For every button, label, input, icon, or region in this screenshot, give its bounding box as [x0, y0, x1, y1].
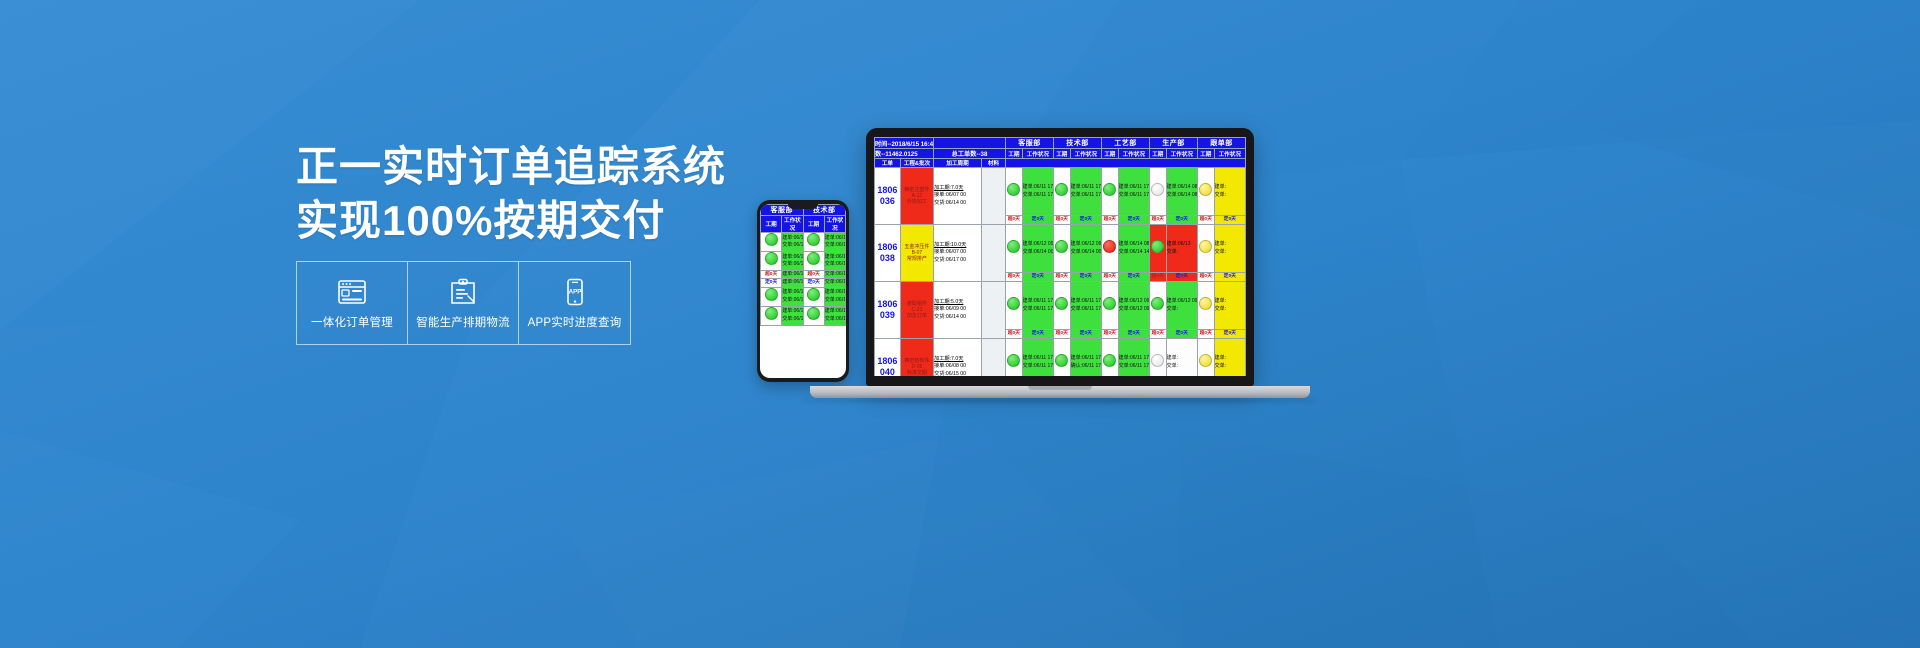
- project-memo-cell: 装配组件 C-21 加急订单: [900, 282, 933, 339]
- status-bar-row-2: 数--11462.0125 总工单数--38 工期 工作状况 工期 工作状况 工…: [875, 149, 1246, 159]
- status-line: 建单:: [1167, 355, 1197, 362]
- status-dot-green: [1055, 297, 1068, 310]
- feature-label: APP实时进度查询: [528, 314, 622, 330]
- status-count: [934, 138, 1006, 149]
- status-dot-green: [1151, 240, 1164, 253]
- status-dot-green: [1007, 240, 1020, 253]
- order-card-icon: [335, 277, 369, 307]
- status-line: 交单:06/14 00: [1023, 249, 1053, 256]
- status-dot-green: [1007, 183, 1020, 196]
- clipboard-schedule-icon: [446, 277, 480, 307]
- status-line: 建单:06/11 17: [1023, 298, 1053, 305]
- status-line: 建单:06/11 17: [825, 308, 845, 315]
- status-detail-cell: 建单: 交单:: [1214, 225, 1245, 273]
- badge-over: 超0天: [1101, 216, 1118, 225]
- badge-fixed: 定0天: [1118, 273, 1149, 282]
- phone-badge-over: 超0天: [803, 271, 824, 279]
- sub-header-period: 工期: [1054, 149, 1071, 159]
- receive-date: 接单:06/07 00: [934, 249, 981, 256]
- badge-over: 超0天: [1054, 330, 1071, 339]
- phone-badge-fixed: 定0天: [761, 279, 782, 287]
- phone-subheader-row: 工期 工作状况 工期 工作状况: [761, 216, 846, 233]
- status-line: 建单:06/11 17: [782, 235, 802, 242]
- status-dot-yellow: [1199, 354, 1212, 367]
- status-line: 交单:06/12 09: [1119, 306, 1149, 313]
- status-dot-green: [765, 252, 778, 265]
- sub-header-workstatus: 工作状况: [1070, 149, 1101, 159]
- status-line: 建单:06/14 08: [1167, 184, 1197, 191]
- status-dot-cell[interactable]: [1149, 282, 1166, 330]
- status-line: 建单:06/11 17: [782, 254, 802, 261]
- phone-dashboard-table: 客服部 技术部 工期 工作状况 工期 工作状况 建单:06/11 17 交单:0…: [760, 204, 846, 326]
- status-line: 建单:06/11 17: [782, 308, 802, 315]
- order-number-cell[interactable]: 1806 040: [875, 339, 901, 377]
- status-line: 交单:06/11 17: [825, 316, 845, 323]
- phone-status-dot-cell[interactable]: [803, 252, 824, 271]
- badge-over: 超0天: [1006, 330, 1023, 339]
- status-dot-green: [765, 307, 778, 320]
- badge-fixed: 定0天: [1070, 216, 1101, 225]
- sub-header-workstatus: 工作状况: [1214, 149, 1245, 159]
- feature-order-management[interactable]: 一体化订单管理: [297, 262, 408, 344]
- phone-sub-header: 工作状况: [782, 216, 803, 233]
- status-line: 建单:06/11 17: [825, 254, 845, 261]
- status-bar-row: 时间--2018/6/15 16:41:36 客服部 技术部 工艺部 生产部 跟…: [875, 138, 1246, 149]
- status-line: 建单:06/11 17: [1071, 298, 1101, 305]
- sub-header-workstatus: 工作状况: [1022, 149, 1053, 159]
- process-cycle-cell: 加工期:7.0天 接单:06/07 00 交货:06/14 00: [934, 168, 982, 225]
- status-dot-green: [807, 233, 820, 246]
- badge-over: 超0天: [1197, 330, 1214, 339]
- cycle-label: 加工期:7.0天: [934, 356, 963, 362]
- receive-date: 接单:06/08 00: [934, 363, 981, 370]
- status-dot-green: [807, 307, 820, 320]
- status-line: 建单:06/11 17: [782, 271, 802, 278]
- badge-over: 超0天: [1101, 330, 1118, 339]
- status-line: 交单:06/11 17: [825, 297, 845, 304]
- status-line: 建单:06/11 17: [1119, 355, 1149, 362]
- status-line: 建单:06/11 17: [782, 289, 802, 296]
- status-dot-green: [1103, 354, 1116, 367]
- status-line: 建单:06/12 09: [1167, 298, 1197, 305]
- phone-status-cell: 建单:06/11 17 交单:06/11 17: [824, 287, 845, 306]
- hero-copy: 正一实时订单追踪系统 实现100%按期交付: [296, 140, 716, 248]
- receive-date: 接单:06/07 00: [934, 192, 981, 199]
- badge-over: 超0天: [1006, 273, 1023, 282]
- phone-app-icon: APP: [558, 277, 592, 307]
- status-detail-cell: 建单:06/12 09 交单:06/12 09: [1118, 282, 1149, 330]
- material-cell: [982, 339, 1006, 377]
- phone-sub-header: 工期: [761, 216, 782, 233]
- phone-status-dot-cell[interactable]: [761, 306, 782, 325]
- badge-over: 超0天: [1197, 273, 1214, 282]
- phone-badge-row: 定0天 建单:06/11 17 定0天 交单:06/11 17: [761, 279, 846, 287]
- badge-fixed: 定0天: [1070, 330, 1101, 339]
- status-dot-green: [1055, 183, 1068, 196]
- status-line: 建单:06/11 17: [1023, 184, 1053, 191]
- feature-box-group: 一体化订单管理 智能生产排期物流 APP APP实时进度查询: [296, 261, 631, 345]
- status-dot-yellow: [1199, 297, 1212, 310]
- phone-table-row: 建单:06/11 17 交单:06/11 17 建单:06/11 17 交单:0…: [761, 233, 846, 252]
- phone-status-cell: 建单:06/11 17 交单:06/11 17: [782, 306, 803, 325]
- feature-app-progress-query[interactable]: APP APP实时进度查询: [519, 262, 630, 344]
- phone-sub-header: 工作状况: [824, 216, 845, 233]
- badge-over: 超0天: [1054, 273, 1071, 282]
- status-dot-green: [1007, 297, 1020, 310]
- svg-text:APP: APP: [568, 288, 581, 295]
- status-dot-green: [1103, 183, 1116, 196]
- status-dot-cell[interactable]: [1006, 282, 1023, 330]
- status-dot-cell[interactable]: [1054, 339, 1071, 377]
- status-dot-cell[interactable]: [1101, 225, 1118, 273]
- status-line: 建单:06/12 09: [1119, 298, 1149, 305]
- table-row: 1806 036 精密注塑件 A-12 外协加工 加工期:7.0天 接单:06/…: [875, 168, 1246, 216]
- process-cycle-cell: 加工期:7.0天 接单:06/08 00 交货:06/15 00: [934, 339, 982, 377]
- status-line: 建单:06/11 17: [1071, 355, 1101, 362]
- order-number-prefix: 1806: [875, 299, 900, 310]
- col-header-order: 工单: [875, 159, 901, 168]
- laptop-shadow: [800, 398, 1320, 403]
- status-dot-green: [1055, 354, 1068, 367]
- status-dot-cell[interactable]: [1197, 282, 1214, 330]
- status-line: 建单:06/11 17: [782, 279, 802, 286]
- status-line: 建单:: [1215, 298, 1245, 305]
- order-number-prefix: 1806: [875, 356, 900, 367]
- deliver-date: 交货:06/14 00: [934, 200, 981, 207]
- phone-status-dot-cell[interactable]: [761, 233, 782, 252]
- status-dot-green: [1103, 297, 1116, 310]
- status-line: 交单:: [1215, 363, 1245, 370]
- phone-status-cell: 建单:06/11 17 交单:06/11 17: [782, 287, 803, 306]
- badge-over: 超0天: [1006, 216, 1023, 225]
- project-memo-cell: 精密注塑件 A-12 外协加工: [900, 168, 933, 225]
- laptop-device: 时间--2018/6/15 16:41:36 客服部 技术部 工艺部 生产部 跟…: [866, 128, 1320, 403]
- badge-over: 超0天: [1101, 273, 1118, 282]
- status-detail-cell: 建单:06/12 09 交单:06/14 00: [1022, 225, 1053, 273]
- status-dot-cell[interactable]: [1149, 339, 1166, 377]
- status-line: 交单:06/11 17: [825, 242, 845, 249]
- status-line: 交单:06/11 17: [1119, 363, 1149, 370]
- badge-fixed: 定0天: [1118, 216, 1149, 225]
- status-dot-cell[interactable]: [1149, 225, 1166, 273]
- cycle-label: 加工期:5.0天: [934, 299, 963, 305]
- sub-header-period: 工期: [1149, 149, 1166, 159]
- phone-status-dot-cell[interactable]: [803, 306, 824, 325]
- status-line: 交单:06/11 17: [825, 261, 845, 268]
- phone-status-dot-cell[interactable]: [761, 287, 782, 306]
- status-line: 交单:06/11 17: [782, 261, 802, 268]
- phone-status-cell: 建单:06/11 17 交单:06/11 17: [824, 233, 845, 252]
- status-detail-cell: 建单:06/14 08 交单:06/14 14: [1118, 225, 1149, 273]
- status-detail-cell: 建单:06/13 交单:: [1166, 225, 1197, 273]
- status-dot-cell[interactable]: [1054, 168, 1071, 216]
- status-detail-cell: 建单:06/12 09 交单:06/14 00: [1070, 225, 1101, 273]
- status-dot-cell[interactable]: [1006, 225, 1023, 273]
- column-header-row: 工单 工程&批次 加工周期 材料: [875, 159, 1246, 168]
- status-detail-cell: 建单:06/11 17 交单:06/11 17: [1070, 168, 1101, 216]
- project-memo-cell: 五金冲压件 B-07 常规排产: [900, 225, 933, 282]
- status-line: 建单:06/11 17: [825, 289, 845, 296]
- badge-fixed: 定0天: [1214, 216, 1245, 225]
- feature-label: 智能生产排期物流: [416, 314, 510, 330]
- status-dot-green: [1055, 240, 1068, 253]
- status-line: 交单:06/11 17: [782, 242, 802, 249]
- status-line: 交单:06/11 17: [1119, 192, 1149, 199]
- phone-badge-fixed: 定0天: [803, 279, 824, 287]
- status-line: 建单:06/12 09: [1023, 241, 1053, 248]
- col-header-project: 工程&批次: [900, 159, 933, 168]
- phone-status-dot-cell[interactable]: [761, 252, 782, 271]
- status-dot-cell[interactable]: [1197, 339, 1214, 377]
- badge-fixed: 定0天: [1022, 273, 1053, 282]
- status-line: 交单:06/11 17: [825, 271, 845, 278]
- status-dot-yellow: [1199, 240, 1212, 253]
- material-cell: [982, 225, 1006, 282]
- badge-over: 超0天: [1197, 216, 1214, 225]
- status-dot-green: [765, 233, 778, 246]
- status-detail-cell: 建单:06/11 17 交单:06/11 17: [1022, 282, 1053, 330]
- status-line: 交单:06/14 08: [1167, 192, 1197, 199]
- status-dot-cell[interactable]: [1054, 282, 1071, 330]
- process-cycle-cell: 加工期:5.0天 接单:06/09 00 交货:06/14 00: [934, 282, 982, 339]
- order-number-prefix: 1806: [875, 185, 900, 196]
- sub-header-workstatus: 工作状况: [1166, 149, 1197, 159]
- col-header-cycle: 加工周期: [934, 159, 982, 168]
- badge-fixed: 定0天: [1022, 216, 1053, 225]
- phone-status-cell: 建单:06/11 17: [782, 279, 803, 287]
- status-dot-green: [807, 252, 820, 265]
- phone-status-cell: 建单:06/11 17 交单:06/11 17: [782, 233, 803, 252]
- deliver-date: 交货:06/15 00: [934, 371, 981, 376]
- order-number-cell[interactable]: 1806 039: [875, 282, 901, 339]
- phone-status-cell: 建单:06/11 17: [782, 271, 803, 279]
- status-detail-cell: 建单:06/11 17 交单:06/11 17: [1022, 339, 1053, 377]
- phone-badge-over: 超0天: [761, 271, 782, 279]
- dept-header-customer-service: 客服部: [1006, 138, 1054, 149]
- status-detail-cell: 建单:06/11 17 确认:06/11 17: [1070, 339, 1101, 377]
- deliver-date: 交货:06/14 00: [934, 314, 981, 321]
- phone-screen[interactable]: 客服部 技术部 工期 工作状况 工期 工作状况 建单:06/11 17 交单:0…: [760, 204, 846, 378]
- project-memo-cell: 精密结构件 D-05 标准交期: [900, 339, 933, 377]
- status-dot-cell[interactable]: [1006, 339, 1023, 377]
- badge-fixed: 定0天: [1214, 330, 1245, 339]
- order-number-suffix: 036: [875, 196, 900, 207]
- status-detail-cell: 建单:06/12 09 交单:: [1166, 282, 1197, 330]
- phone-table-row: 建单:06/11 17 交单:06/11 17 建单:06/11 17 交单:0…: [761, 306, 846, 325]
- status-line: 交单:06/11 17: [782, 316, 802, 323]
- status-line: 交单:06/14 14: [1119, 249, 1149, 256]
- status-line: 交单:: [1215, 306, 1245, 313]
- status-line: 建单:06/12 09: [1071, 241, 1101, 248]
- phone-notch: [788, 203, 818, 209]
- status-dot-green: [765, 288, 778, 301]
- status-line: 交单:06/11 17: [1023, 192, 1053, 199]
- phone-table-row: 建单:06/11 17 交单:06/11 17 建单:06/11 17 交单:0…: [761, 287, 846, 306]
- dept-header-craft: 工艺部: [1101, 138, 1149, 149]
- status-line: 交单:06/11 17: [1023, 306, 1053, 313]
- status-detail-cell: 建单: 交单:: [1214, 339, 1245, 377]
- phone-status-dot-cell[interactable]: [803, 287, 824, 306]
- order-number-cell[interactable]: 1806 038: [875, 225, 901, 282]
- feature-label: 一体化订单管理: [311, 314, 393, 330]
- status-dot-cell[interactable]: [1054, 225, 1071, 273]
- deliver-date: 交货:06/17 00: [934, 257, 981, 264]
- table-row: 1806 040 精密结构件 D-05 标准交期 加工期:7.0天 接单:06/…: [875, 339, 1246, 377]
- badge-fixed: 定0天: [1166, 273, 1197, 282]
- status-line: 交单:06/11 17: [782, 297, 802, 304]
- status-dot-white: [1151, 354, 1164, 367]
- sub-header-period: 工期: [1197, 149, 1214, 159]
- table-row: 1806 039 装配组件 C-21 加急订单 加工期:5.0天 接单:06/0…: [875, 282, 1246, 330]
- status-dot-cell[interactable]: [1006, 168, 1023, 216]
- status-total: 总工单数--38: [934, 149, 1006, 159]
- status-dot-green: [1007, 354, 1020, 367]
- badge-over: 超0天: [1054, 216, 1071, 225]
- material-cell: [982, 168, 1006, 225]
- badge-fixed: 定0天: [1022, 330, 1053, 339]
- laptop-base: [810, 386, 1310, 398]
- status-line: 建单:06/11 17: [1119, 184, 1149, 191]
- status-line: 建单:06/11 17: [825, 235, 845, 242]
- status-detail-cell: 建单:06/11 17 交单:06/11 17: [1118, 339, 1149, 377]
- status-detail-cell: 建单: 交单:: [1214, 168, 1245, 216]
- phone-badge-row: 超0天 建单:06/11 17 超0天 交单:06/11 17: [761, 271, 846, 279]
- status-dot-cell[interactable]: [1149, 168, 1166, 216]
- status-detail-cell: 建单:06/14 08 交单:06/14 08: [1166, 168, 1197, 216]
- sub-header-workstatus: 工作状况: [1118, 149, 1149, 159]
- dept-header-technical: 技术部: [1054, 138, 1102, 149]
- status-line: 建单:: [1215, 241, 1245, 248]
- phone-device: 客服部 技术部 工期 工作状况 工期 工作状况 建单:06/11 17 交单:0…: [757, 200, 849, 382]
- phone-status-cell: 建单:06/11 17 交单:06/11 17: [782, 252, 803, 271]
- status-dot-green: [807, 288, 820, 301]
- laptop-screen[interactable]: 时间--2018/6/15 16:41:36 客服部 技术部 工艺部 生产部 跟…: [874, 137, 1246, 376]
- order-number-prefix: 1806: [875, 242, 900, 253]
- status-line: 建单:06/13: [1167, 241, 1197, 248]
- table-row: 1806 038 五金冲压件 B-07 常规排产 加工期:10.0天 接单:06…: [875, 225, 1246, 273]
- badge-over: 超0天: [1149, 273, 1166, 282]
- badge-fixed: 定0天: [1166, 216, 1197, 225]
- status-line: 交单:: [1215, 192, 1245, 199]
- badge-fixed: 定0天: [1118, 330, 1149, 339]
- status-line: 建单:: [1215, 355, 1245, 362]
- phone-sub-header: 工期: [803, 216, 824, 233]
- order-number-suffix: 040: [875, 367, 900, 376]
- col-header-material: 材料: [982, 159, 1006, 168]
- phone-table-row: 建单:06/11 17 交单:06/11 17 建单:06/11 17 交单:0…: [761, 252, 846, 271]
- badge-fixed: 定0天: [1214, 273, 1245, 282]
- order-number-suffix: 039: [875, 310, 900, 321]
- status-dot-yellow: [1199, 183, 1212, 196]
- status-dot-green: [1151, 297, 1164, 310]
- dept-header-production: 生产部: [1149, 138, 1197, 149]
- status-detail-cell: 建单:06/11 17 交单:06/11 17: [1118, 168, 1149, 216]
- col-header-spacer: [1006, 159, 1246, 168]
- dashboard-table: 时间--2018/6/15 16:41:36 客服部 技术部 工艺部 生产部 跟…: [874, 137, 1246, 376]
- status-detail-cell: 建单:06/11 17 交单:06/11 17: [1070, 282, 1101, 330]
- feature-production-scheduling[interactable]: 智能生产排期物流: [408, 262, 519, 344]
- status-line: 确认:06/11 17: [1071, 363, 1101, 370]
- status-line: 建单:: [1215, 184, 1245, 191]
- material-cell: [982, 282, 1006, 339]
- status-line: 交单:06/11 17: [825, 279, 845, 286]
- status-dot-cell[interactable]: [1101, 168, 1118, 216]
- badge-over: 超0天: [1149, 216, 1166, 225]
- laptop-lid: 时间--2018/6/15 16:41:36 客服部 技术部 工艺部 生产部 跟…: [866, 128, 1254, 386]
- receive-date: 接单:06/09 00: [934, 306, 981, 313]
- status-detail-cell: 建单: 交单:: [1166, 339, 1197, 377]
- status-dot-red: [1103, 240, 1116, 253]
- status-line: 交单:06/14 00: [1071, 249, 1101, 256]
- status-line: 建单:06/11 17: [1023, 355, 1053, 362]
- status-detail-cell: 建单:06/11 17 交单:06/11 17: [1022, 168, 1053, 216]
- sub-header-period: 工期: [1101, 149, 1118, 159]
- status-dot-white: [1151, 183, 1164, 196]
- status-line: 交单:06/11 17: [1023, 363, 1053, 370]
- order-number-cell[interactable]: 1806 036: [875, 168, 901, 225]
- status-line: 交单:06/11 17: [1071, 306, 1101, 313]
- cycle-label: 加工期:10.0天: [934, 242, 966, 248]
- dept-header-merchandising: 跟单部: [1197, 138, 1245, 149]
- status-line: 交单:: [1167, 306, 1197, 313]
- badge-fixed: 定0天: [1070, 273, 1101, 282]
- headline-line-1: 正一实时订单追踪系统: [296, 140, 716, 194]
- phone-status-cell: 建单:06/11 17 交单:06/11 17: [824, 252, 845, 271]
- status-line: 交单:: [1215, 249, 1245, 256]
- phone-status-cell: 交单:06/11 17: [824, 271, 845, 279]
- badge-over: 超0天: [1149, 330, 1166, 339]
- status-line: 交单:: [1167, 249, 1197, 256]
- phone-status-cell: 建单:06/11 17 交单:06/11 17: [824, 306, 845, 325]
- badge-fixed: 定0天: [1166, 330, 1197, 339]
- status-time: 时间--2018/6/15 16:41:36: [875, 138, 934, 149]
- status-dot-cell[interactable]: [1197, 225, 1214, 273]
- status-number: 数--11462.0125: [875, 149, 934, 159]
- status-dot-cell[interactable]: [1101, 339, 1118, 377]
- phone-status-cell: 交单:06/11 17: [824, 279, 845, 287]
- order-number-suffix: 038: [875, 253, 900, 264]
- status-line: 交单:: [1167, 363, 1197, 370]
- status-dot-cell[interactable]: [1197, 168, 1214, 216]
- headline-line-2: 实现100%按期交付: [296, 194, 716, 248]
- status-dot-cell[interactable]: [1101, 282, 1118, 330]
- sub-header-period: 工期: [1006, 149, 1023, 159]
- status-line: 建单:06/11 17: [1071, 184, 1101, 191]
- phone-status-dot-cell[interactable]: [803, 233, 824, 252]
- status-line: 交单:06/11 17: [1071, 192, 1101, 199]
- process-cycle-cell: 加工期:10.0天 接单:06/07 00 交货:06/17 00: [934, 225, 982, 282]
- status-line: 建单:06/14 08: [1119, 241, 1149, 248]
- cycle-label: 加工期:7.0天: [934, 185, 963, 191]
- status-detail-cell: 建单: 交单:: [1214, 282, 1245, 330]
